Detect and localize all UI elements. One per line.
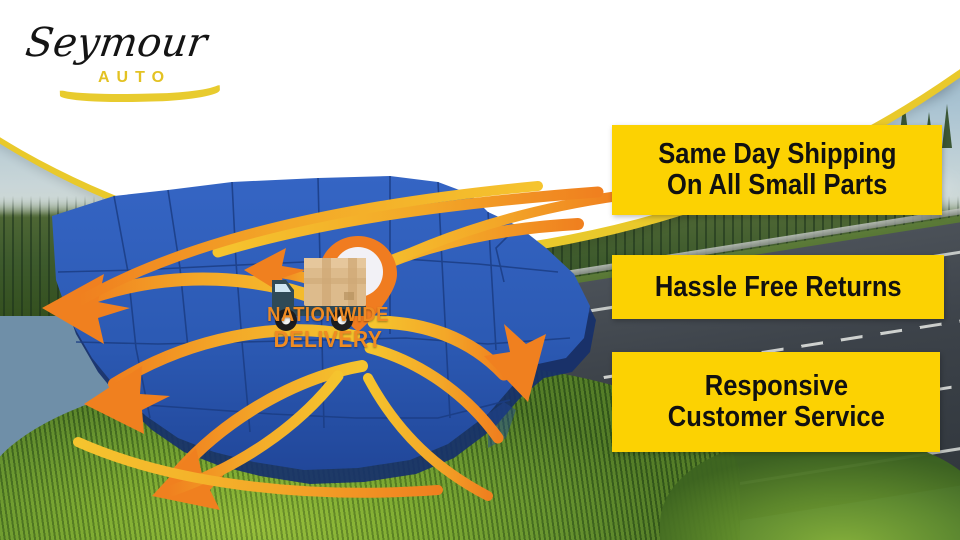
brand-logo[interactable]: Seymour AUTO [22, 14, 237, 106]
feature-badge-responsive-customer-service[interactable]: Responsive Customer Service [612, 352, 940, 452]
promo-banner: Seymour AUTO [0, 0, 960, 540]
nationwide-line-2: DELIVERY [254, 327, 401, 352]
feature-badge-hassle-free-returns[interactable]: Hassle Free Returns [612, 255, 944, 319]
badge-1-line-1: Same Day Shipping [658, 139, 896, 170]
badge-3-line-2: Customer Service [667, 402, 884, 433]
nationwide-delivery-label: NATIONWIDE DELIVERY [248, 305, 408, 351]
badge-1-line-2: On All Small Parts [667, 170, 887, 201]
logo-swoosh [60, 85, 220, 105]
badge-3-line-1: Responsive [704, 371, 847, 402]
brand-name: Seymour [23, 20, 210, 66]
nationwide-line-1: NATIONWIDE [254, 305, 401, 327]
feature-badge-same-day-shipping[interactable]: Same Day Shipping On All Small Parts [612, 125, 942, 215]
brand-subtitle: AUTO [98, 69, 171, 87]
pine-tree [942, 104, 952, 148]
badge-2-line-1: Hassle Free Returns [655, 272, 902, 303]
